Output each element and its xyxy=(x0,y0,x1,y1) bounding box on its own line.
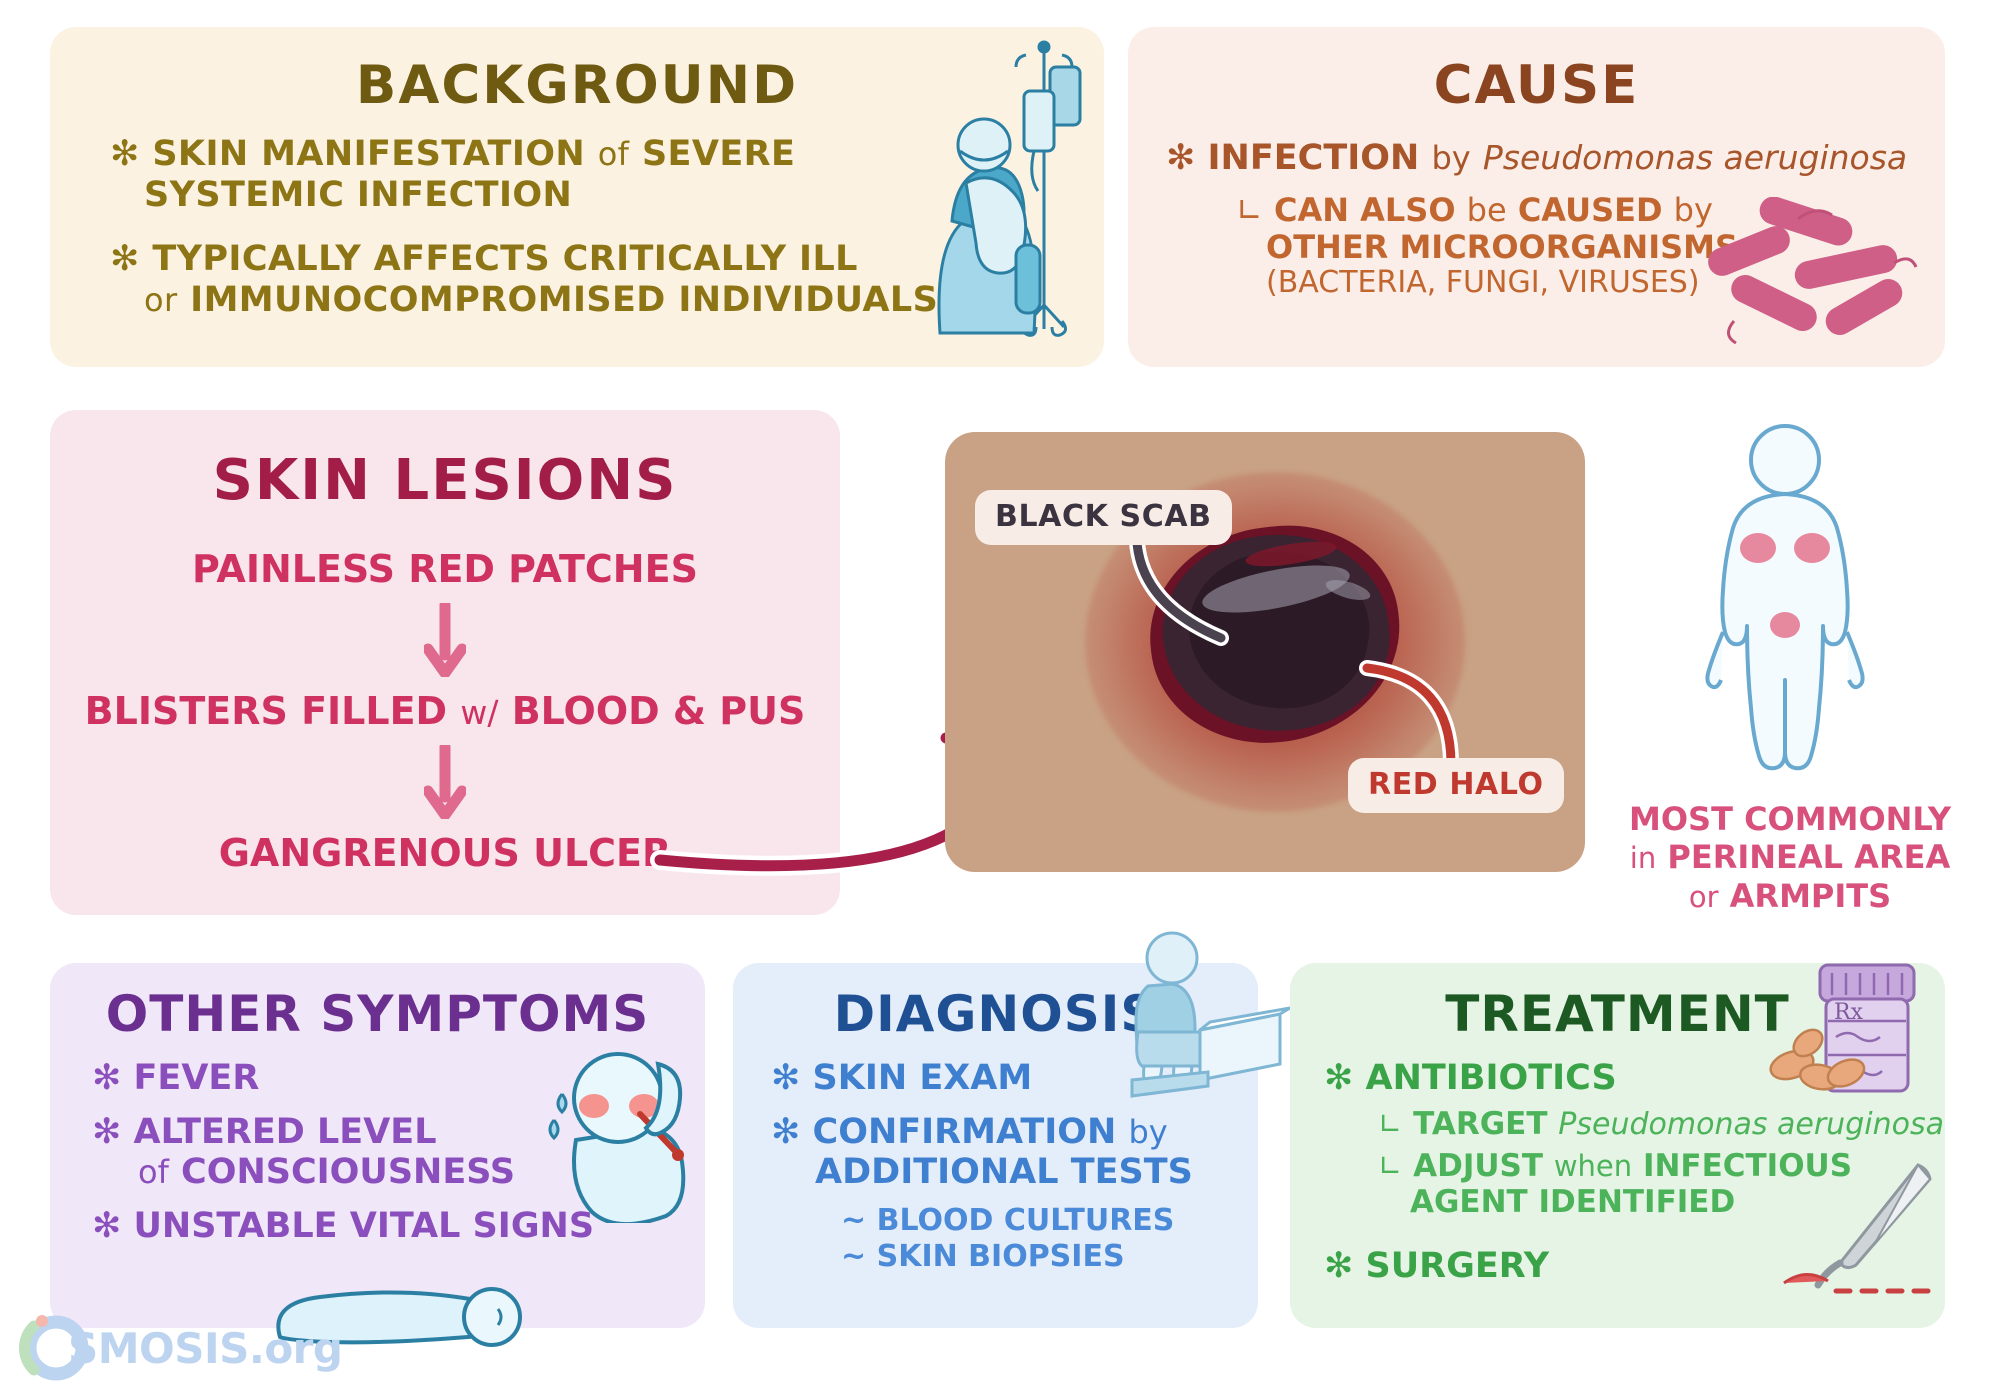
elbow-icon: ∟ xyxy=(1236,191,1263,229)
callout-black-scab: BLACK SCAB xyxy=(975,490,1232,545)
diagnosis-item-1-label: SKIN EXAM xyxy=(813,1058,1033,1098)
treatment-item-2-label: SURGERY xyxy=(1366,1246,1550,1286)
bullet-icon-2: ✻ xyxy=(771,1112,800,1152)
diagnosis-subitem-1: ~ BLOOD CULTURES xyxy=(733,1203,1258,1239)
treatment-card: TREATMENT ✻ ANTIBIOTICS ∟ TARGET Pseudom… xyxy=(1290,963,1945,1328)
other-symptoms-card: OTHER SYMPTOMS ✻ FEVER ✻ ALTERED LEVEL o… xyxy=(50,963,705,1328)
bullet-icon-3: ✻ xyxy=(92,1206,121,1246)
treatment-organism-name: Pseudomonas aeruginosa xyxy=(1558,1107,1944,1142)
body-caption-or: or xyxy=(1689,880,1719,914)
lesion-spot-armpit-left xyxy=(1740,533,1776,563)
cause-sub-b: be xyxy=(1467,191,1507,229)
patient-in-bed-with-iv-drip-icon xyxy=(922,33,1092,343)
lesion-step-2-a: BLISTERS FILLED xyxy=(85,689,447,733)
lesion-spot-perineal xyxy=(1770,612,1800,638)
cause-card: CAUSE ✻ INFECTION by Pseudomonas aerugin… xyxy=(1128,27,1945,367)
body-caption-line3: or ARMPITS xyxy=(1600,877,1980,915)
body-caption-line2: in PERINEAL AREA xyxy=(1600,838,1980,876)
treatment-sub-2-a: ADJUST xyxy=(1413,1148,1543,1184)
cause-sub-a: CAN ALSO xyxy=(1274,191,1456,229)
body-figure-caption: MOST COMMONLY in PERINEAL AREA or ARMPIT… xyxy=(1600,800,1980,915)
background-item-1-strong-a: SKIN MANIFESTATION xyxy=(152,134,585,174)
bullet-icon-2: ✻ xyxy=(92,1112,121,1152)
scalpel-icon xyxy=(1778,1159,1948,1299)
treatment-item-1-label: ANTIBIOTICS xyxy=(1366,1058,1617,1098)
body-caption-armpits: ARMPITS xyxy=(1730,877,1891,915)
diagnosis-item-2-line2: ADDITIONAL TESTS xyxy=(733,1153,1258,1193)
treatment-sub-1-label: TARGET xyxy=(1413,1106,1547,1142)
bullet-icon-2: ✻ xyxy=(1324,1246,1353,1286)
diagnosis-item-2-light: by xyxy=(1128,1113,1167,1151)
bullet-icon-2: ✻ xyxy=(110,239,140,279)
diagnosis-subitem-1-label: BLOOD CULTURES xyxy=(877,1203,1175,1238)
background-item-2-strong-b: IMMUNOCOMPROMISED INDIVIDUALS xyxy=(190,280,938,320)
background-card: BACKGROUND ✻ SKIN MANIFESTATION of SEVER… xyxy=(50,27,1104,367)
background-item-2-strong-a: TYPICALLY AFFECTS CRITICALLY ILL xyxy=(152,239,858,279)
diagnosis-item-2-label: CONFIRMATION xyxy=(813,1112,1117,1152)
background-item-1-strong-b: SEVERE xyxy=(642,134,795,174)
pill-bottle-with-tablets-icon: Rx xyxy=(1762,913,1952,1098)
elbow-icon: ∟ xyxy=(1378,1107,1402,1141)
sick-person-with-thermometer-icon xyxy=(540,1048,700,1223)
patient-sitting-on-exam-table-icon xyxy=(1108,928,1293,1103)
osmosis-logo[interactable]: SMOSIS.org xyxy=(14,1312,342,1384)
symptom-item-3-label: UNSTABLE VITAL SIGNS xyxy=(134,1206,595,1246)
human-body-outline-icon xyxy=(1660,420,1910,800)
other-symptoms-title: OTHER SYMPTOMS xyxy=(50,963,705,1043)
infographic-page: BACKGROUND ✻ SKIN MANIFESTATION of SEVER… xyxy=(0,0,1994,1392)
callout-red-halo: RED HALO xyxy=(1348,758,1564,813)
pseudomonas-bacteria-rods-icon xyxy=(1698,197,1928,352)
diagnosis-item-2: ✻ CONFIRMATION by xyxy=(733,1113,1258,1153)
symptom-item-2-light: of xyxy=(138,1153,169,1191)
osmosis-logo-text: SMOSIS.org xyxy=(68,1324,342,1373)
background-item-1-light: of xyxy=(598,135,630,173)
treatment-sub-2-light: when xyxy=(1554,1149,1632,1183)
diagnosis-subitem-2: ~ SKIN BIOPSIES xyxy=(733,1239,1258,1275)
cause-line1-light: by xyxy=(1431,139,1470,177)
diagnosis-card: DIAGNOSIS ✻ SKIN EXAM ✻ CONFIRMATION by … xyxy=(733,963,1258,1328)
symptom-item-2-label: ALTERED LEVEL xyxy=(134,1112,437,1152)
elbow-icon-2: ∟ xyxy=(1378,1149,1402,1183)
bullet-icon: ✻ xyxy=(1166,138,1195,178)
down-arrow-icon xyxy=(424,603,466,677)
cause-sub-c: CAUSED xyxy=(1518,191,1663,229)
lesion-spot-armpit-right xyxy=(1794,533,1830,563)
symptom-item-2-label2: CONSCIOUSNESS xyxy=(181,1152,515,1192)
bullet-icon: ✻ xyxy=(110,134,140,174)
bullet-icon: ✻ xyxy=(92,1058,121,1098)
treatment-sub-1: ∟ TARGET Pseudomonas aeruginosa xyxy=(1290,1107,1945,1143)
cause-organism-name: Pseudomonas aeruginosa xyxy=(1483,138,1907,177)
tilde-bullet-icon: ~ xyxy=(841,1203,866,1238)
background-item-2-light: or xyxy=(144,281,178,319)
skin-lesions-title: SKIN LESIONS xyxy=(50,410,840,513)
lesion-step-2-small: w/ xyxy=(460,693,498,732)
lesion-step-1: PAINLESS RED PATCHES xyxy=(50,547,840,591)
body-caption-line1: MOST COMMONLY xyxy=(1600,800,1980,838)
diagnosis-subitem-2-label: SKIN BIOPSIES xyxy=(877,1239,1125,1274)
bullet-icon: ✻ xyxy=(771,1058,800,1098)
cause-line1-strong: INFECTION xyxy=(1208,138,1420,178)
svg-text:Rx: Rx xyxy=(1834,1000,1864,1025)
symptom-item-1-label: FEVER xyxy=(134,1058,260,1098)
body-caption-in: in xyxy=(1630,841,1656,875)
cause-title: CAUSE xyxy=(1128,27,1945,116)
down-arrow-icon-2 xyxy=(424,745,466,819)
tilde-bullet-icon-2: ~ xyxy=(841,1239,866,1274)
bullet-icon: ✻ xyxy=(1324,1058,1353,1098)
body-caption-perineal: PERINEAL AREA xyxy=(1667,838,1950,876)
cause-item-1: ✻ INFECTION by Pseudomonas aeruginosa xyxy=(1128,116,1945,178)
